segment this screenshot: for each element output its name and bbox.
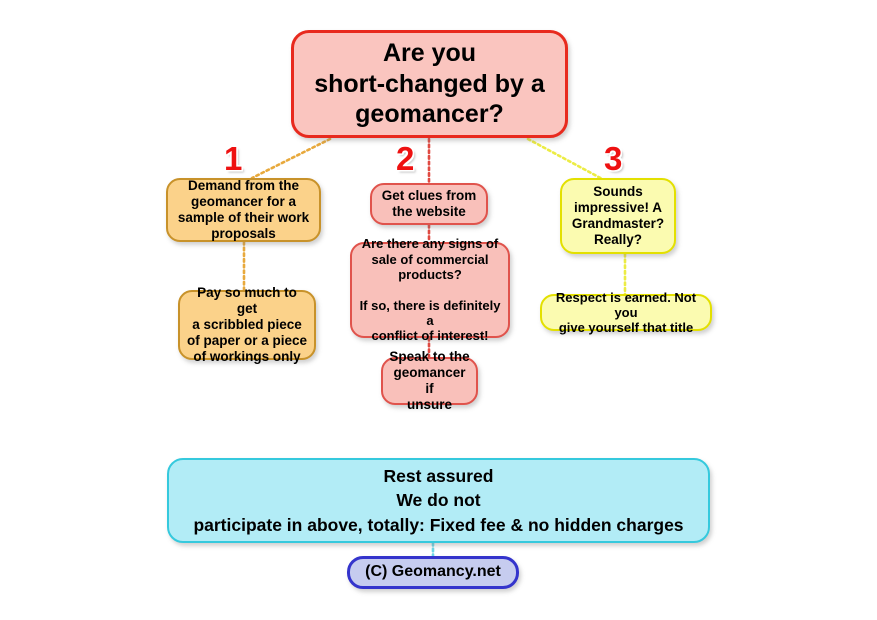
step-number-3: 3	[604, 142, 622, 175]
title-box: Are you short-changed by a geomancer?	[291, 30, 568, 138]
diagram-canvas: Are you short-changed by a geomancer? 1 …	[0, 0, 877, 620]
step2-main-box: Get clues from the website	[370, 183, 488, 225]
step2-sub-box-1: Are there any signs of sale of commercia…	[350, 242, 510, 338]
connector-title-to-step3	[528, 139, 606, 181]
step1-main-box: Demand from the geomancer for a sample o…	[166, 178, 321, 242]
step-number-2: 2	[396, 142, 414, 175]
step3-sub-box: Respect is earned. Not you give yourself…	[540, 294, 712, 331]
step-number-1: 1	[224, 142, 242, 175]
assurance-box: Rest assured We do not participate in ab…	[167, 458, 710, 543]
step3-main-box: Sounds impressive! A Grandmaster? Really…	[560, 178, 676, 254]
connector-title-to-step1	[252, 139, 330, 178]
step1-sub-box: Pay so much to get a scribbled piece of …	[178, 290, 316, 360]
footer-badge[interactable]: (C) Geomancy.net	[347, 556, 519, 589]
step2-sub-box-2: Speak to the geomancer if unsure	[381, 357, 478, 405]
